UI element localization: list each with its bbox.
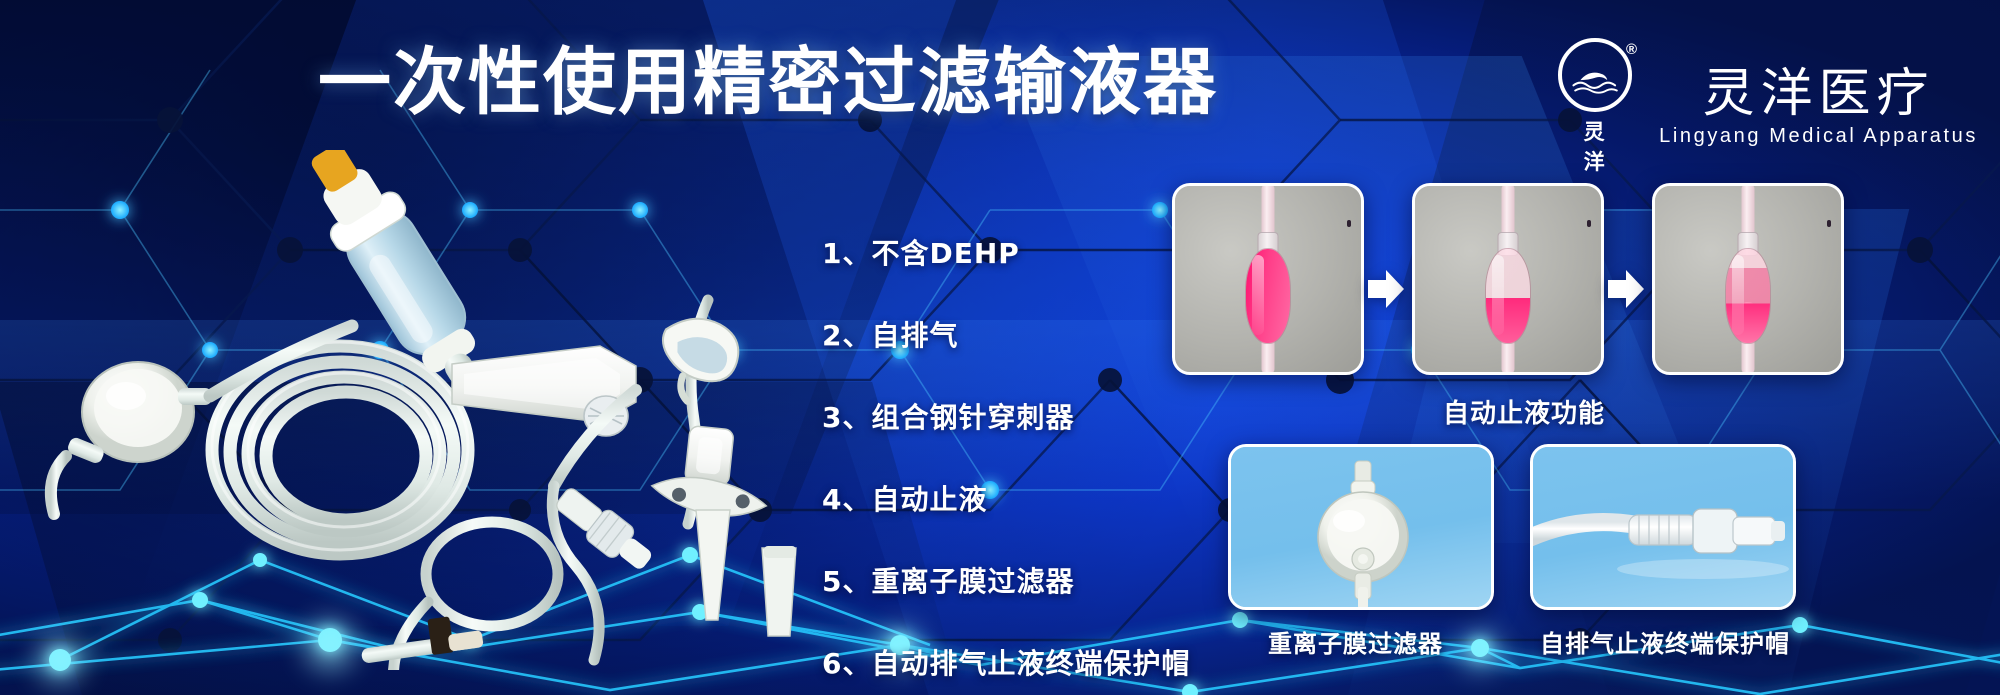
steel-needle-assembly bbox=[649, 300, 796, 636]
arrow-right-icon-1 bbox=[1366, 268, 1406, 310]
brand-name-block: 灵洋医疗 Lingyang Medical Apparatus bbox=[1659, 66, 1978, 148]
brand-logo: ® 灵 洋 灵洋医疗 Lingyang Medical Apparatus bbox=[1547, 38, 1978, 176]
arrow-right-icon-2 bbox=[1606, 268, 1646, 310]
sequence-photo-1 bbox=[1172, 183, 1364, 375]
logo-mark-label: 灵 洋 bbox=[1547, 116, 1643, 176]
terminal-protective-cap-illustration bbox=[1533, 447, 1796, 610]
product-photo-cap bbox=[1530, 444, 1796, 610]
feature-item-3: 3、组合钢针穿刺器 bbox=[822, 396, 1190, 436]
product-photo-filter bbox=[1228, 444, 1494, 610]
feature-item-4: 4、自动止液 bbox=[822, 478, 1190, 518]
brand-name-en: Lingyang Medical Apparatus bbox=[1659, 125, 1978, 148]
wave-fish-icon bbox=[1570, 68, 1622, 94]
feature-item-6: 6、自动排气止液终端保护帽 bbox=[822, 642, 1190, 682]
product-caption-cap: 自排气止液终端保护帽 bbox=[1540, 624, 1790, 659]
page-title: 一次性使用精密过滤输液器 bbox=[318, 46, 1218, 120]
infusion-set-illustration bbox=[40, 150, 800, 670]
product-caption-filter: 重离子膜过滤器 bbox=[1268, 624, 1443, 659]
sequence-photo-2 bbox=[1412, 183, 1604, 375]
logo-mark: ® 灵 洋 bbox=[1547, 38, 1643, 176]
product-photo bbox=[40, 150, 800, 670]
luer-connector-part bbox=[550, 481, 659, 577]
auto-stop-chamber bbox=[1725, 248, 1771, 344]
auto-stop-chamber bbox=[1485, 248, 1531, 344]
feature-item-2: 2、自排气 bbox=[822, 314, 1190, 354]
heavy-ion-membrane-filter-illustration bbox=[1231, 447, 1494, 610]
feature-list: 1、不含DEHP 2、自排气 3、组合钢针穿刺器 4、自动止液 5、重离子膜过滤… bbox=[822, 232, 1190, 682]
feature-item-5: 5、重离子膜过滤器 bbox=[822, 560, 1190, 600]
logo-circle-icon bbox=[1558, 38, 1632, 112]
sequence-photo-3 bbox=[1652, 183, 1844, 375]
sequence-caption: 自动止液功能 bbox=[1443, 393, 1605, 430]
air-filter-part bbox=[51, 362, 212, 514]
feature-item-1: 1、不含DEHP bbox=[822, 232, 1190, 272]
promo-banner: 一次性使用精密过滤输液器 ® 灵 洋 灵洋医疗 Lingyang Medical… bbox=[0, 0, 2000, 695]
registered-trademark-icon: ® bbox=[1626, 42, 1637, 57]
brand-name-cn: 灵洋医疗 bbox=[1659, 66, 1978, 122]
auto-stop-chamber bbox=[1245, 248, 1291, 344]
